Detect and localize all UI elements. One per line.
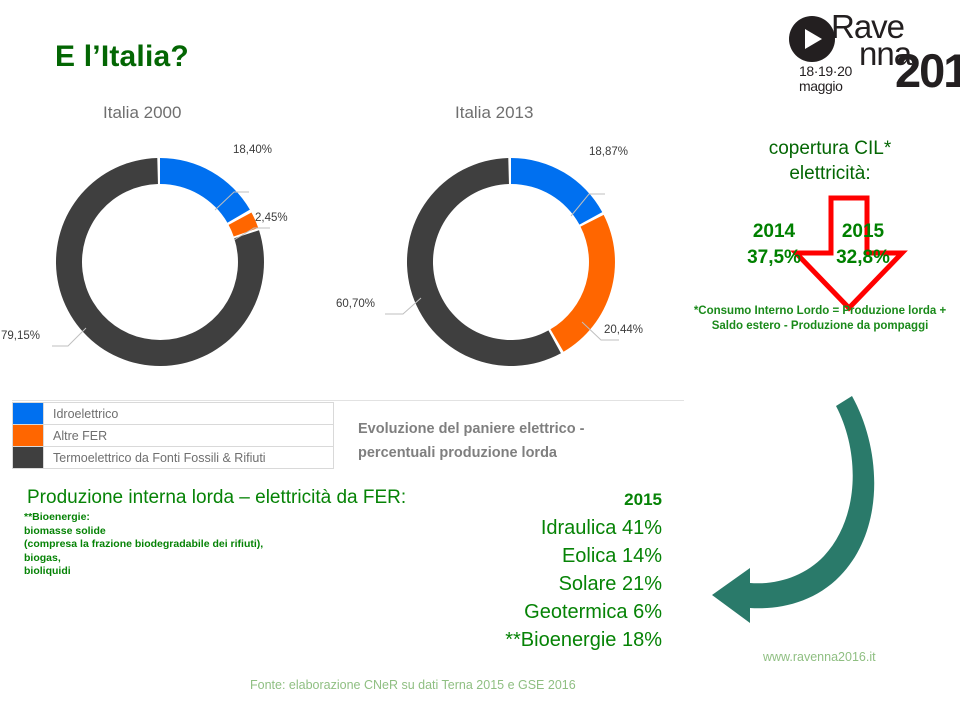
bioenergie-line-2: biomasse solide — [24, 525, 324, 539]
fer-item-solare: Solare 21% — [400, 570, 662, 598]
bioenergie-footnote: **Bioenergie: biomasse solide (compresa … — [24, 511, 324, 579]
donut-label-altre-fer-2000: 2,45% — [255, 212, 288, 224]
donut-label-idroelettrico-2000: 18,40% — [233, 144, 272, 156]
legend-label-idroelettrico: Idroelettrico — [43, 403, 333, 424]
donut-label-altre-fer-2013: 20,44% — [604, 324, 643, 336]
legend-swatch-termoelettrico — [13, 447, 43, 468]
logo-dates-line2: maggio — [799, 79, 852, 94]
legend-item-termoelettrico: Termoelettrico da Fonti Fossili & Rifiut… — [13, 447, 333, 468]
play-triangle-icon — [805, 29, 822, 49]
chart-title-italia-2013: Italia 2013 — [455, 103, 533, 123]
cil-2014-year: 2014 — [735, 219, 813, 245]
bioenergie-line-3: (compresa la frazione biodegradabile dei… — [24, 538, 324, 552]
cil-heading-line2: elettricità: — [710, 161, 950, 186]
logo-dates-line1: 18·19·20 — [799, 64, 852, 79]
donut-label-termoelettrico-2000: 79,15% — [1, 330, 40, 342]
donut-label-termoelettrico-2013: 60,70% — [336, 298, 375, 310]
chart-title-italia-2000: Italia 2000 — [103, 103, 181, 123]
chart-legend: Idroelettrico Altre FER Termoelettrico d… — [12, 402, 334, 469]
fer-item-bioenergie: **Bioenergie 18% — [400, 626, 662, 654]
website-url: www.ravenna2016.it — [763, 650, 876, 664]
source-note: Fonte: elaborazione CNeR su dati Terna 2… — [250, 678, 576, 692]
cil-heading: copertura CIL* elettricità: — [710, 136, 950, 186]
fer-item-idraulica: Idraulica 41% — [400, 514, 662, 542]
cil-2015-value: 32,8% — [824, 245, 902, 271]
fer-item-geotermica: Geotermica 6% — [400, 598, 662, 626]
legend-label-termoelettrico: Termoelettrico da Fonti Fossili & Rifiut… — [43, 447, 333, 468]
cil-2014-block: 2014 37,5% — [735, 219, 813, 271]
slide-canvas: E l’Italia? Rave nna 2016 18·19·20 maggi… — [0, 0, 960, 720]
produzione-title: Produzione interna lorda – elettricità d… — [27, 487, 406, 509]
logo-year: 2016 — [895, 47, 960, 94]
cil-2015-year: 2015 — [824, 219, 902, 245]
legend-top-divider — [12, 400, 684, 401]
cil-2015-block: 2015 32,8% — [824, 219, 902, 271]
bioenergie-line-5: bioliquidi — [24, 565, 324, 579]
bioenergie-line-1: **Bioenergie: — [24, 511, 324, 525]
bioenergie-line-4: biogas, — [24, 552, 324, 566]
donut-label-idroelettrico-2013: 18,87% — [589, 146, 628, 158]
legend-item-idroelettrico: Idroelettrico — [13, 403, 333, 425]
page-title: E l’Italia? — [55, 40, 189, 74]
logo-dates: 18·19·20 maggio — [799, 64, 852, 94]
curved-arrow-icon — [700, 380, 900, 630]
ravenna-2016-logo: Rave nna 2016 18·19·20 maggio — [785, 6, 955, 102]
charts-subtitle: Evoluzione del paniere elettrico - perce… — [358, 417, 648, 465]
cil-2014-value: 37,5% — [735, 245, 813, 271]
fer-breakdown-list: 2015 Idraulica 41% Eolica 14% Solare 21%… — [400, 486, 662, 654]
donut-leaders-2000 — [48, 150, 272, 374]
donut-chart-italia-2000: 18,40% 2,45% 79,15% — [48, 150, 272, 374]
legend-label-altre-fer: Altre FER — [43, 425, 333, 446]
cil-heading-line1: copertura CIL* — [710, 136, 950, 161]
donut-leaders-2013 — [399, 150, 623, 374]
legend-swatch-altre-fer — [13, 425, 43, 446]
donut-chart-italia-2013: 18,87% 20,44% 60,70% — [399, 150, 623, 374]
fer-year: 2015 — [400, 486, 662, 514]
legend-swatch-idroelettrico — [13, 403, 43, 424]
fer-item-eolica: Eolica 14% — [400, 542, 662, 570]
legend-item-altre-fer: Altre FER — [13, 425, 333, 447]
cil-footnote: *Consumo Interno Lordo = Produzione lord… — [688, 304, 952, 334]
